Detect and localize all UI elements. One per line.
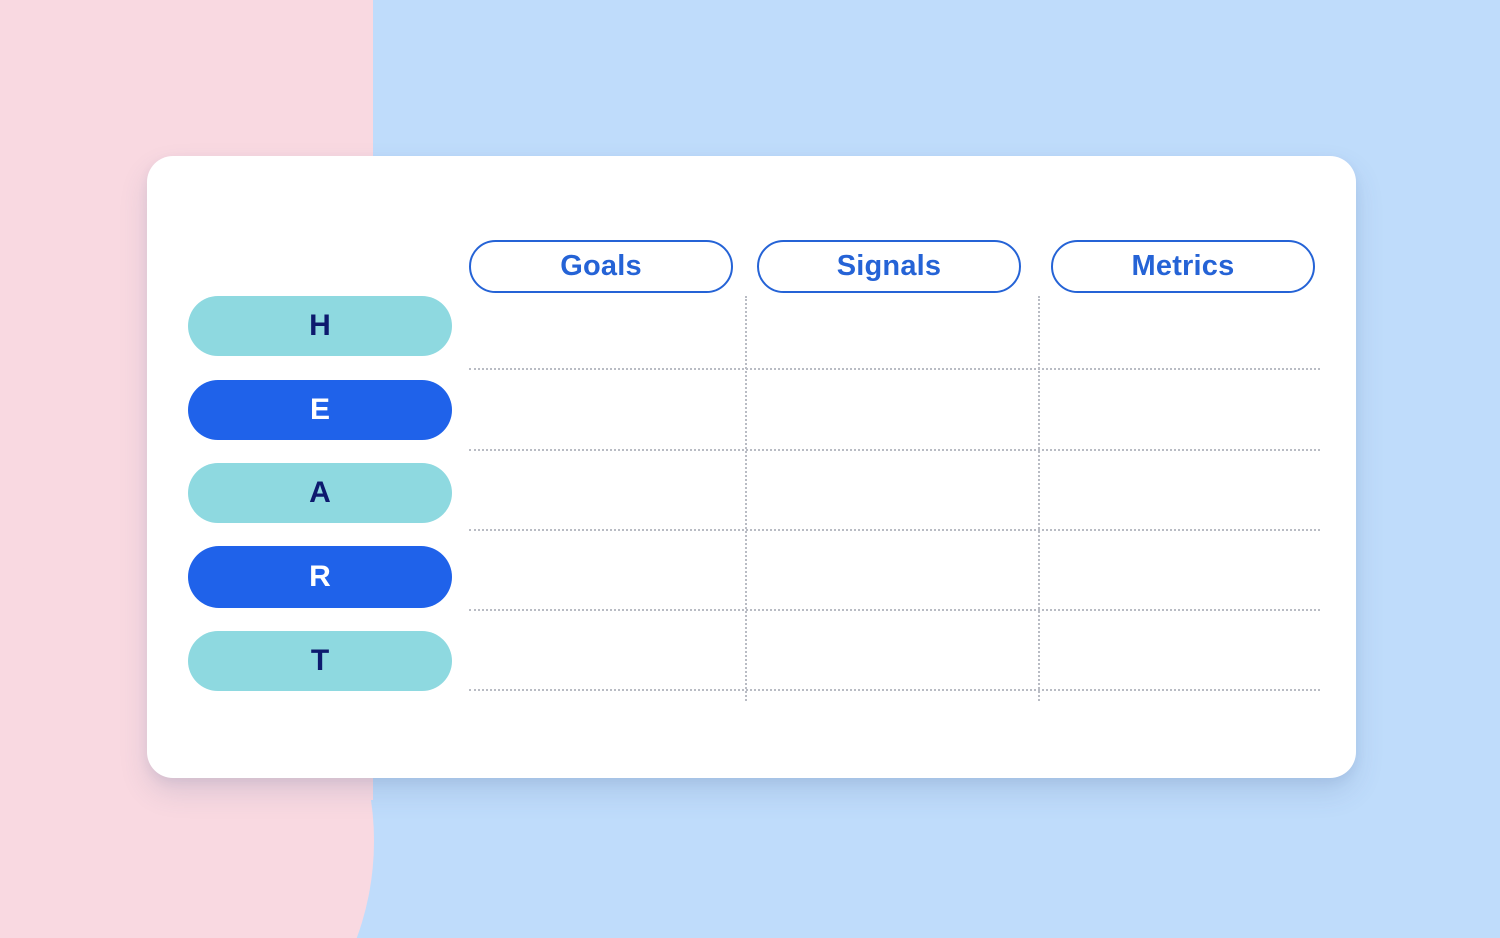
worksheet-grid[interactable]	[469, 296, 1320, 701]
column-header-goals[interactable]: Goals	[469, 240, 733, 293]
heart-framework-card: Goals Signals Metrics H E A R	[147, 156, 1356, 778]
grid-horizontal-line	[469, 449, 1320, 451]
row-label-t[interactable]: T	[188, 631, 452, 691]
heart-row-labels: H E A R T	[188, 296, 452, 691]
canvas: Goals Signals Metrics H E A R	[0, 0, 1500, 938]
grid-horizontal-line	[469, 529, 1320, 531]
column-header-signals-label: Signals	[837, 252, 942, 281]
row-label-a-letter: A	[309, 478, 331, 508]
grid-vertical-line	[1038, 296, 1040, 701]
row-label-e[interactable]: E	[188, 380, 452, 440]
row-label-t-letter: T	[311, 646, 329, 676]
row-label-h-letter: H	[309, 311, 331, 341]
column-header-row: Goals Signals Metrics	[469, 240, 1314, 293]
column-header-metrics[interactable]: Metrics	[1051, 240, 1315, 293]
row-label-e-letter: E	[310, 395, 330, 425]
row-label-r[interactable]: R	[188, 546, 452, 608]
column-header-metrics-label: Metrics	[1132, 252, 1235, 281]
grid-horizontal-line	[469, 609, 1320, 611]
column-header-signals[interactable]: Signals	[757, 240, 1021, 293]
grid-horizontal-line	[469, 689, 1320, 691]
row-label-h[interactable]: H	[188, 296, 452, 356]
row-label-r-letter: R	[309, 562, 331, 592]
column-header-goals-label: Goals	[560, 252, 642, 281]
grid-horizontal-line	[469, 368, 1320, 370]
grid-vertical-line	[745, 296, 747, 701]
row-label-a[interactable]: A	[188, 463, 452, 523]
